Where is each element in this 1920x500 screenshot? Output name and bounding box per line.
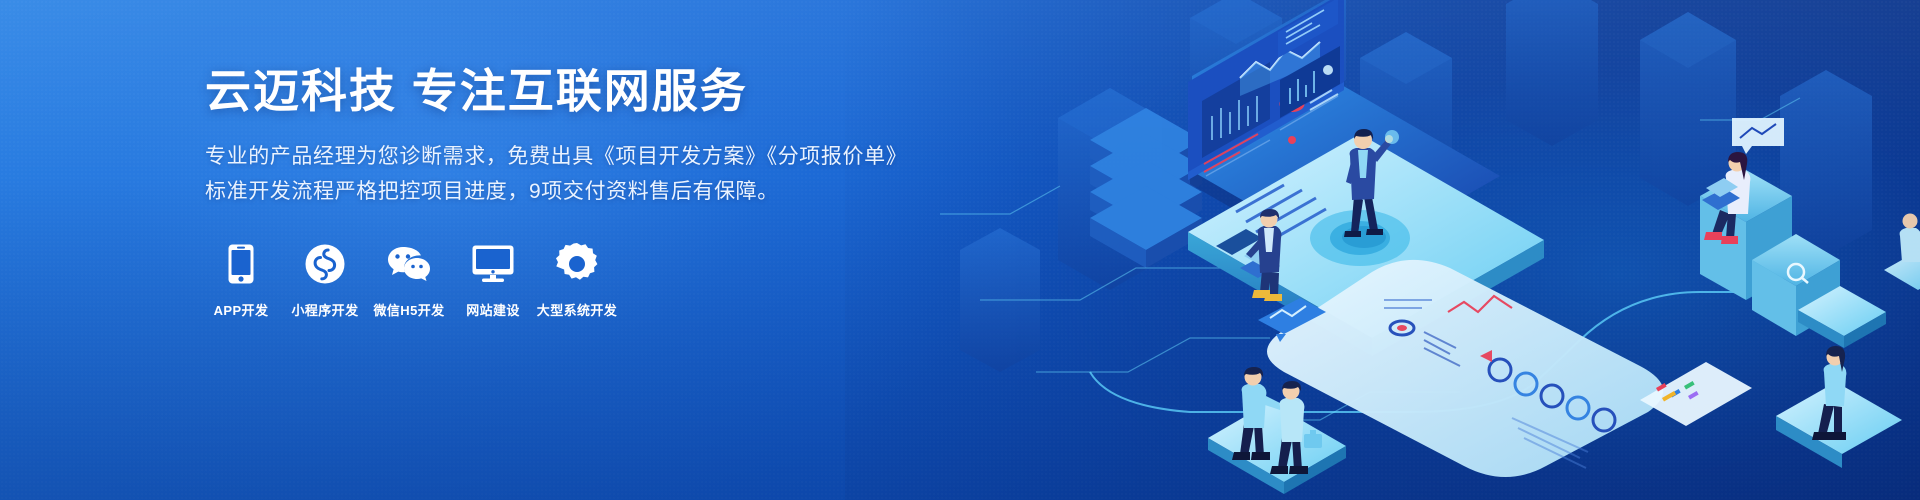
service-item-miniprogram[interactable]: 小程序开发 bbox=[289, 242, 361, 319]
service-list: APP开发 小程序开发 bbox=[205, 242, 905, 319]
chart-tooltip-bubble bbox=[1732, 118, 1784, 154]
gear-icon bbox=[556, 242, 598, 286]
service-item-website[interactable]: 网站建设 bbox=[457, 242, 529, 319]
service-label-large-system: 大型系统开发 bbox=[537, 300, 617, 319]
page-title: 云迈科技 专注互联网服务 bbox=[205, 64, 905, 118]
mini-program-icon bbox=[305, 242, 345, 286]
subtitle-line-2: 标准开发流程严格把控项目进度，9项交付资料售后有保障。 bbox=[205, 175, 905, 210]
banner-subtitle: 专业的产品经理为您诊断需求，免费出具《项目开发方案》《分项报价单》 标准开发流程… bbox=[205, 140, 905, 210]
service-label-miniprogram: 小程序开发 bbox=[291, 300, 358, 319]
hero-banner: 云迈科技 专注互联网服务 专业的产品经理为您诊断需求，免费出具《项目开发方案》《… bbox=[0, 0, 1920, 500]
service-label-website: 网站建设 bbox=[466, 300, 520, 319]
service-item-large-system[interactable]: 大型系统开发 bbox=[541, 242, 613, 319]
wechat-icon bbox=[386, 242, 432, 286]
service-item-wechat-h5[interactable]: 微信H5开发 bbox=[373, 242, 445, 319]
monitor-icon bbox=[472, 242, 514, 286]
service-label-wechat-h5: 微信H5开发 bbox=[373, 300, 444, 319]
partial-figure-right bbox=[1884, 214, 1920, 291]
server-stack bbox=[1090, 108, 1202, 268]
mobile-phone-icon bbox=[228, 242, 254, 286]
color-info-card bbox=[1640, 362, 1752, 426]
service-item-app[interactable]: APP开发 bbox=[205, 242, 277, 319]
service-label-app: APP开发 bbox=[214, 300, 269, 319]
subtitle-line-1: 专业的产品经理为您诊断需求，免费出具《项目开发方案》《分项报价单》 bbox=[205, 140, 905, 175]
banner-content: 云迈科技 专注互联网服务 专业的产品经理为您诊断需求，免费出具《项目开发方案》《… bbox=[205, 64, 905, 319]
isometric-data-dashboard-illustration bbox=[940, 0, 1920, 500]
